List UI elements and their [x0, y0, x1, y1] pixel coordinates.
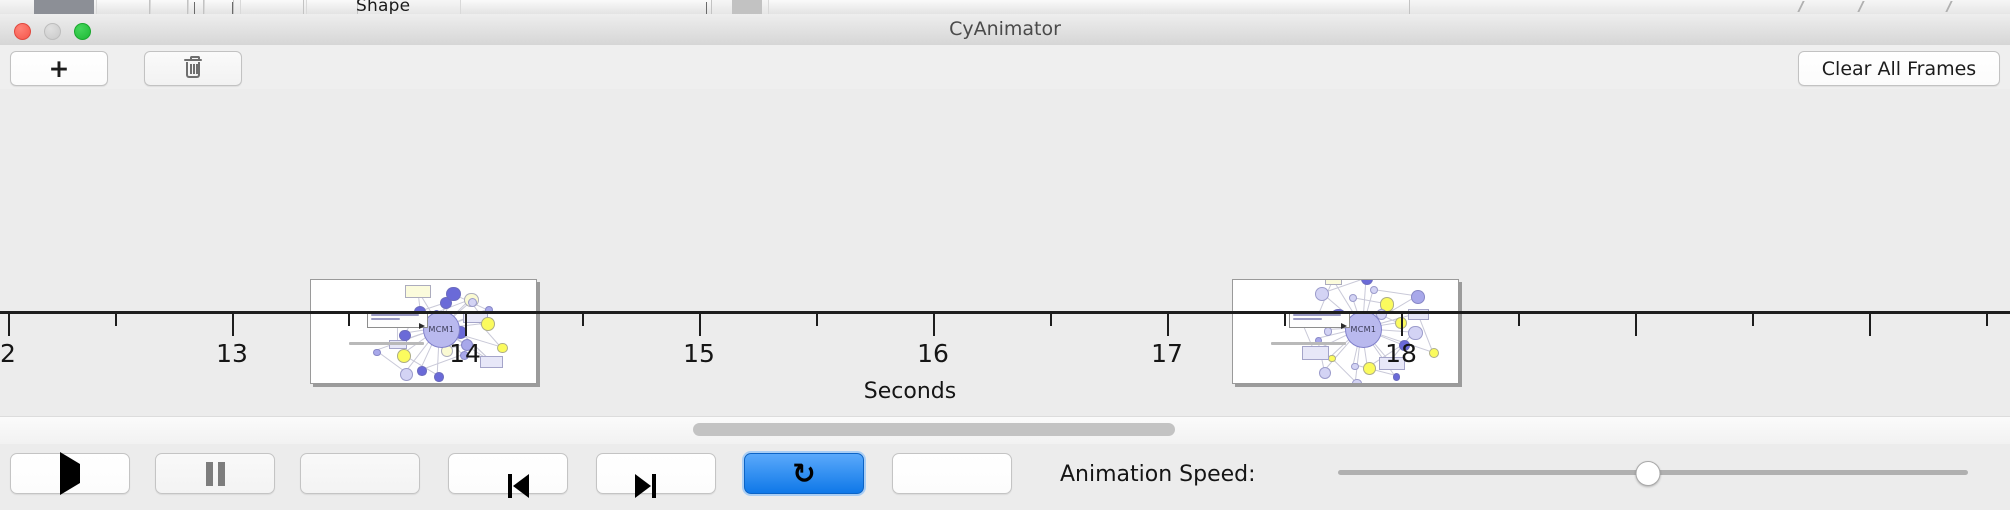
ruler-tick-minor	[115, 314, 117, 326]
add-frame-button[interactable]: +	[10, 51, 108, 86]
bg-window-label: Shape	[356, 0, 410, 15]
ruler-tick-label: 13	[216, 339, 248, 368]
bg-tick	[706, 2, 707, 14]
bg-slash	[1945, 1, 1964, 12]
ruler-tick-minor	[582, 314, 584, 326]
skip-to-end-button[interactable]	[596, 453, 716, 494]
ruler-tick-minor	[1518, 314, 1520, 326]
play-button[interactable]	[10, 453, 130, 494]
loop-icon: ↻	[792, 460, 815, 488]
loop-button[interactable]: ↻	[744, 453, 864, 494]
bg-slash	[1797, 1, 1816, 12]
transport-bar: Animation Speed: ↻	[0, 444, 2010, 510]
record-button[interactable]	[892, 453, 1012, 494]
delete-frame-button[interactable]	[144, 51, 242, 86]
ruler-tick-minor	[1050, 314, 1052, 326]
network-node	[1325, 279, 1342, 285]
trash-icon	[183, 58, 203, 80]
ruler-tick-label: 15	[683, 339, 715, 368]
ruler-tick-label: 2	[0, 339, 16, 368]
bg-segment	[240, 0, 304, 14]
bg-slash	[1857, 1, 1876, 12]
ruler-tick-major	[465, 314, 467, 336]
pause-icon	[206, 462, 225, 486]
ruler-tick-minor	[1284, 314, 1286, 326]
ruler-axis-line	[0, 311, 2010, 314]
ruler-tick-major	[1167, 314, 1169, 336]
title-bar[interactable]: CyAnimator	[0, 14, 2010, 46]
network-node	[1361, 279, 1373, 285]
ruler-axis-title: Seconds	[864, 379, 956, 404]
slider-knob[interactable]	[1636, 461, 1661, 486]
bg-segment	[460, 0, 712, 14]
ruler-tick-label: 17	[1151, 339, 1183, 368]
network-node	[446, 287, 460, 301]
ruler-tick-major	[232, 314, 234, 336]
bg-tick	[194, 2, 195, 14]
ruler-tick-major	[1869, 314, 1871, 336]
ruler-tick-label: 16	[917, 339, 949, 368]
network-node	[468, 298, 477, 307]
timeline-scrollbar[interactable]	[0, 416, 2010, 445]
ruler-tick-minor	[1986, 314, 1988, 326]
ruler-tick-minor	[816, 314, 818, 326]
animation-speed-slider[interactable]	[1338, 453, 1968, 492]
ruler-tick-label: 14	[449, 339, 481, 368]
timeline-ruler[interactable]: Seconds 2131415161718	[0, 311, 2010, 416]
ruler-tick-major	[8, 314, 10, 336]
timeline-panel[interactable]: MCM1MCM1MCM1 Seconds 2131415161718	[0, 89, 2010, 416]
window-title: CyAnimator	[0, 14, 2010, 45]
keyframe-lane[interactable]: MCM1MCM1MCM1	[0, 89, 2010, 311]
ruler-tick-minor	[348, 314, 350, 326]
play-icon	[60, 464, 80, 483]
bg-segment	[306, 0, 358, 14]
scrollbar-thumb[interactable]	[693, 423, 1175, 436]
background-window-strip: Shape	[0, 0, 2010, 15]
clear-all-frames-label: Clear All Frames	[1822, 58, 1976, 80]
skip-to-start-button[interactable]	[448, 453, 568, 494]
pause-button	[155, 453, 275, 494]
bg-tick	[232, 2, 233, 14]
stop-button	[300, 453, 420, 494]
network-node	[1370, 286, 1378, 294]
cyanimator-window: Shape CyAnimator + Clear All Frames MC	[0, 0, 2010, 510]
ruler-tick-major	[1635, 314, 1637, 336]
network-node	[1315, 287, 1329, 301]
network-node	[405, 285, 431, 298]
bg-segment	[150, 0, 188, 14]
bg-dark-segment	[34, 0, 94, 14]
bg-segment	[768, 0, 1410, 14]
ruler-tick-major	[933, 314, 935, 336]
animation-speed-label: Animation Speed:	[1060, 462, 1256, 487]
bg-segment	[96, 0, 150, 14]
plus-icon: +	[49, 54, 70, 83]
ruler-tick-label: 18	[1385, 339, 1417, 368]
ruler-tick-major	[699, 314, 701, 336]
toolbar: + Clear All Frames	[0, 45, 2010, 90]
network-node	[1349, 294, 1357, 302]
clear-all-frames-button[interactable]: Clear All Frames	[1798, 51, 2000, 86]
ruler-tick-major	[1401, 314, 1403, 336]
bg-segment	[204, 0, 234, 14]
ruler-tick-minor	[1752, 314, 1754, 326]
bg-segment	[188, 0, 204, 14]
network-node	[1411, 290, 1425, 304]
bg-segment	[732, 0, 762, 14]
